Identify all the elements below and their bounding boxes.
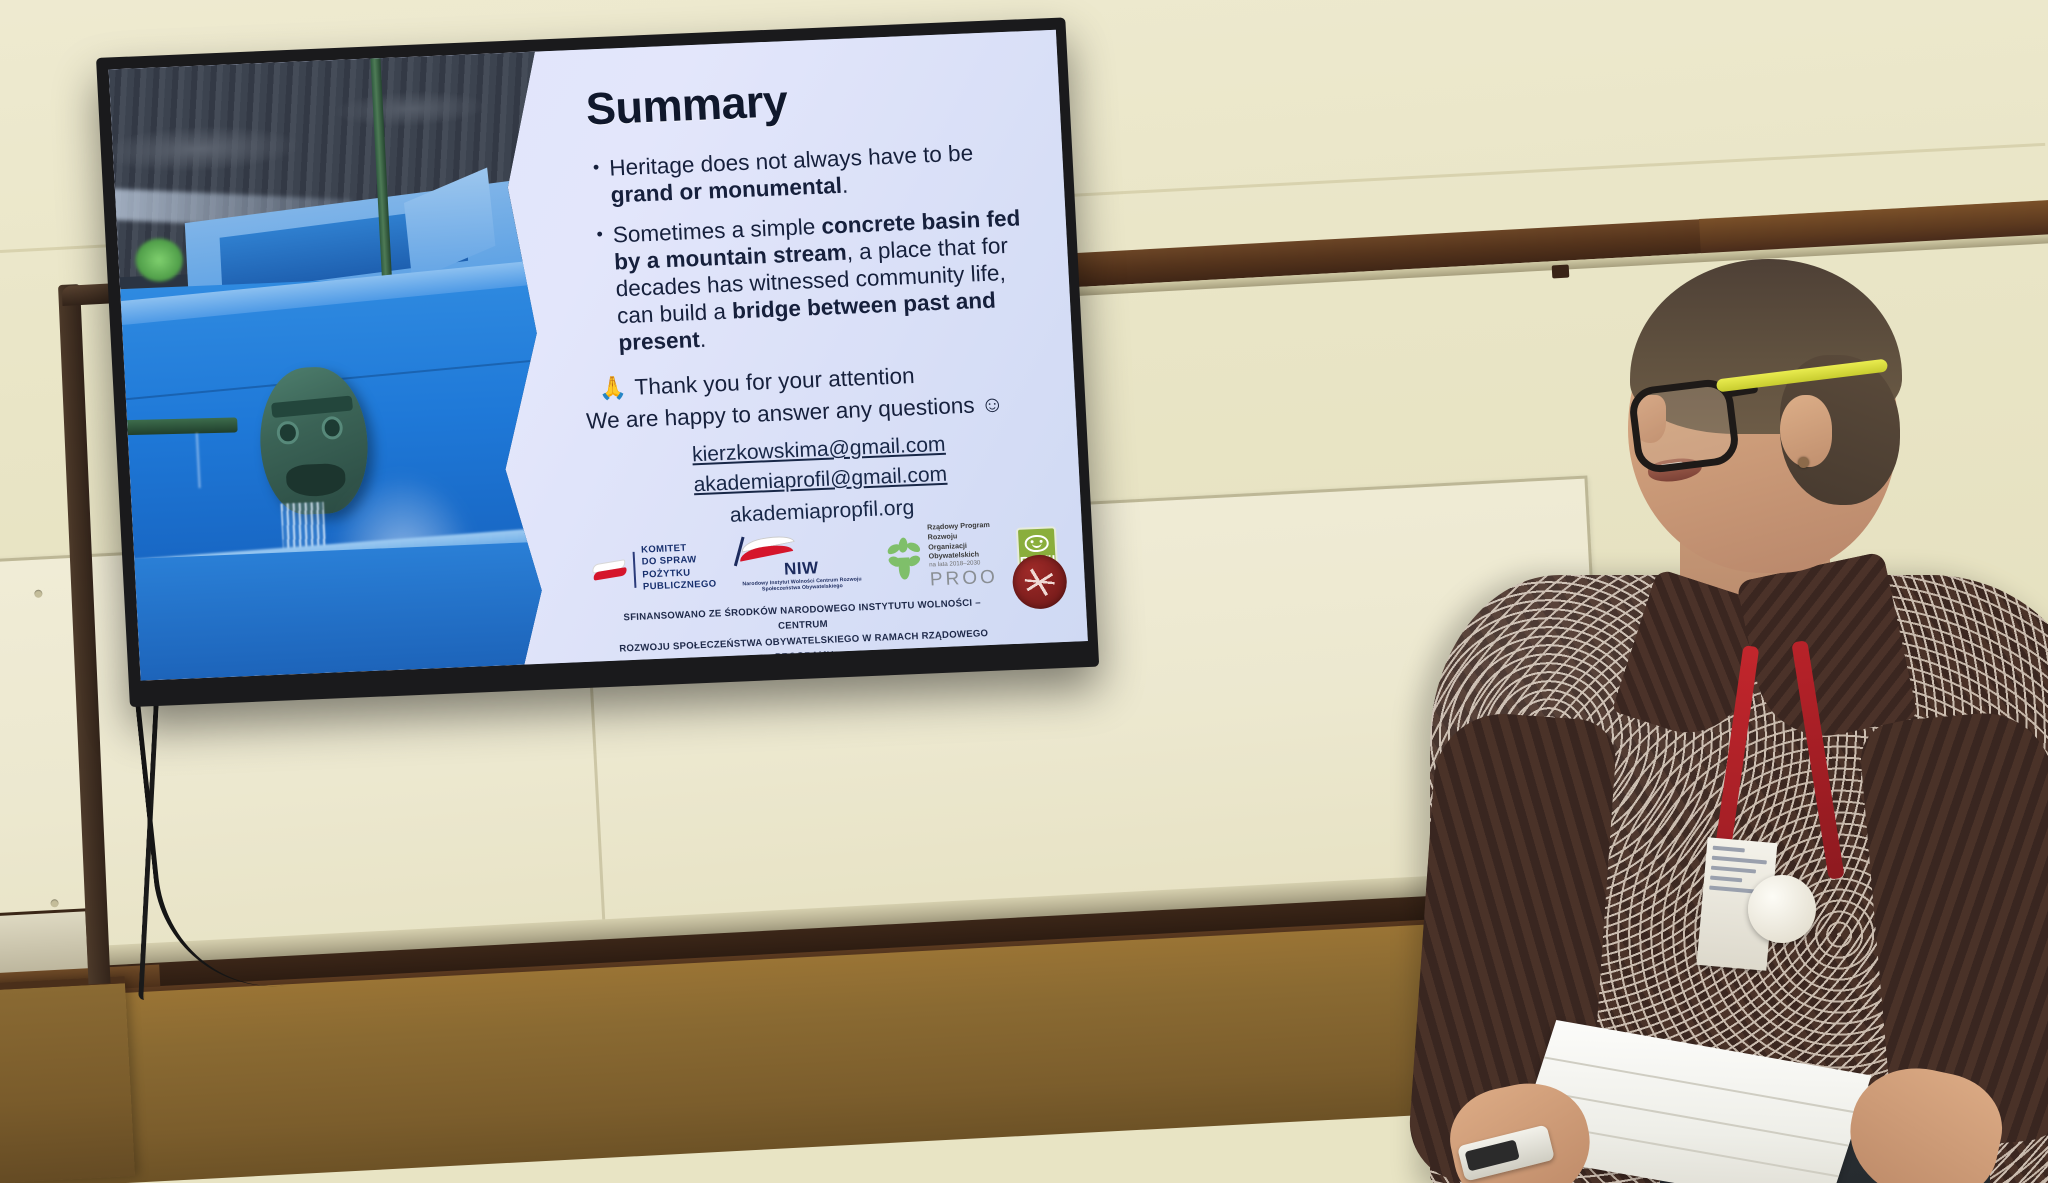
lanyard-medallion xyxy=(1748,875,1816,943)
whiteboard-screw xyxy=(50,899,58,907)
proo-wordmark: PROO xyxy=(929,567,999,592)
remote-screen xyxy=(1465,1139,1520,1171)
presenter-ear xyxy=(1780,395,1832,467)
slide-bullet-item: • Heritage does not always have to be gr… xyxy=(592,137,1038,209)
proo-logo-text: Rządowy Program Rozwoju Organizacji Obyw… xyxy=(927,520,999,592)
logo-proo: Rządowy Program Rozwoju Organizacji Obyw… xyxy=(885,520,999,593)
bullet-dot-icon: • xyxy=(592,155,601,209)
bullet-text: Heritage does not always have to be gran… xyxy=(609,137,1039,209)
earring-icon xyxy=(1798,457,1809,468)
photo-mask-eye-right xyxy=(321,416,344,440)
bullet-dot-icon: • xyxy=(596,222,609,357)
wall-mounted-tv[interactable]: Summary • Heritage does not always have … xyxy=(96,17,1099,707)
bullet-run: . xyxy=(699,327,707,352)
bullet-run: . xyxy=(841,173,849,198)
photo-water-pool xyxy=(134,541,567,681)
bullet-text: Sometimes a simple concrete basin fed by… xyxy=(612,204,1046,357)
slide-text-column: Summary • Heritage does not always have … xyxy=(535,30,1088,663)
whiteboard-screw xyxy=(34,590,42,598)
komitet-line-4: PUBLICZNEGO xyxy=(643,578,717,593)
slide-photo-basin xyxy=(109,52,567,681)
polish-flag-icon xyxy=(591,559,627,581)
thanks-text: Thank you for your attention xyxy=(634,363,915,401)
proo-leaf-icon xyxy=(885,536,922,579)
photo-mask-eye-left xyxy=(277,421,300,445)
presenter xyxy=(1480,245,2040,1183)
tv-screen: Summary • Heritage does not always have … xyxy=(109,30,1088,681)
badge-line xyxy=(1712,856,1767,865)
presentation-room-scene: Summary • Heritage does not always have … xyxy=(0,0,2048,1183)
photo-horizontal-pipe xyxy=(119,417,239,435)
logo-niw: NIW Narodowy Instytut Wolności Centrum R… xyxy=(734,531,868,594)
komitet-logo-text: KOMITET DO SPRAW POŻYTKU PUBLICZNEGO xyxy=(641,542,717,594)
red-seal-glyph-icon xyxy=(1024,566,1056,597)
podium xyxy=(0,976,135,1183)
badge-line xyxy=(1711,866,1756,874)
badge-line xyxy=(1713,846,1745,853)
slide-bullet-item: • Sometimes a simple concrete basin fed … xyxy=(596,204,1046,357)
smiley-face-icon xyxy=(1024,534,1049,552)
niw-flag-icon xyxy=(734,534,798,567)
logo-komitet-do-spraw-pozytku-publicznego: KOMITET DO SPRAW POŻYTKU PUBLICZNEGO xyxy=(591,542,717,596)
badge-line xyxy=(1710,876,1742,883)
slide-title: Summary xyxy=(585,65,1035,136)
slide-bullet-list: • Heritage does not always have to be gr… xyxy=(592,137,1046,370)
photo-mask-brow xyxy=(271,396,353,418)
logo-divider xyxy=(632,551,636,587)
presentation-slide: Summary • Heritage does not always have … xyxy=(109,30,1088,681)
praying-hands-icon: 🙏 xyxy=(598,375,627,402)
eyeglasses-lens-left xyxy=(1627,377,1741,475)
